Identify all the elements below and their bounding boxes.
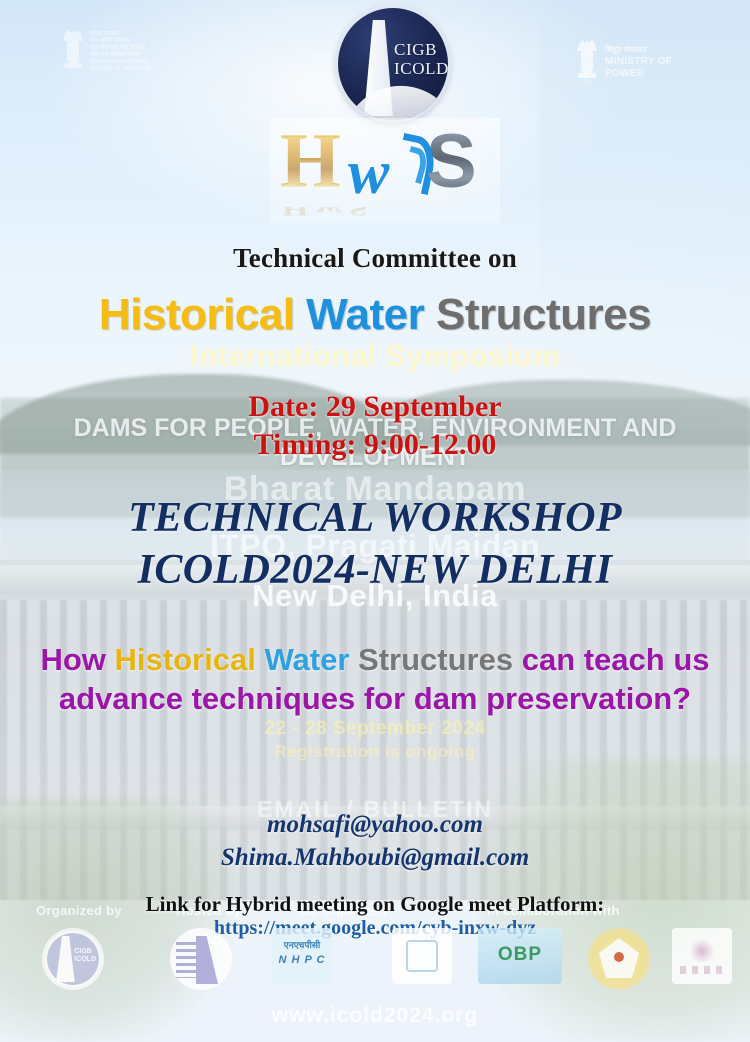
icold-sweep-shape xyxy=(338,80,448,120)
hws-letter-s: S xyxy=(426,124,477,200)
title-word-historical: Historical xyxy=(99,290,295,339)
question-word-structures: Structures xyxy=(358,642,513,677)
workshop-heading-line-2: ICOLD2024-NEW DELHI xyxy=(0,544,750,596)
incold-partner-logo xyxy=(170,928,232,990)
contact-emails: mohsafi@yahoo.com Shima.Mahboubi@gmail.c… xyxy=(0,808,750,874)
poster-title: Historical Water Structures xyxy=(0,292,750,338)
event-datetime-block: Date: 29 September Timing: 9:00-12.00 xyxy=(0,388,750,464)
obp-label: OBP xyxy=(478,944,562,966)
question-word-water: Water xyxy=(264,642,349,677)
emblem-left-text-block: भारत सरकार जल शक्ति मंत्रालय जल संसाधन, … xyxy=(90,28,150,76)
workshop-question: How Historical Water Structures can teac… xyxy=(0,640,750,718)
cigb-icold-logo: CIGB ICOLD xyxy=(338,8,448,120)
emblem-left-line-5: Government of India xyxy=(90,59,150,66)
event-date: Date: 29 September xyxy=(0,388,750,426)
workshop-heading: TECHNICAL WORKSHOP ICOLD2024-NEW DELHI xyxy=(0,492,750,596)
icold-logo-text: CIGB ICOLD xyxy=(394,40,448,78)
cigb-icold-partner-logo: CIGB ICOLD xyxy=(42,928,104,990)
title-word-structures: Structures xyxy=(436,290,651,339)
icold-logo-line-2: ICOLD xyxy=(394,59,448,78)
government-of-india-emblem-left: सत्य भारत सरकार जल शक्ति मंत्रालय जल संस… xyxy=(62,28,150,76)
hws-reflection: HwS xyxy=(282,207,482,219)
icold-logo-line-1: CIGB xyxy=(394,40,448,59)
poster-canvas: International Symposium DAMS FOR PEOPLE,… xyxy=(0,0,750,1042)
emblem-left-line-6: Ministry of Jal Shakti xyxy=(90,66,150,73)
hws-logo: H w S HwS xyxy=(270,118,500,223)
emblem-left-line-1: भारत सरकार xyxy=(90,31,150,38)
ashoka-emblem-icon: सत्य xyxy=(62,28,84,76)
question-part-1: How xyxy=(40,642,114,677)
partner-logo-4 xyxy=(392,928,452,984)
nhpc-hindi-label: एनएचपीसी xyxy=(276,938,328,951)
ministry-of-power-text-block: विद्युत मंत्रालय MINISTRY OF POWER xyxy=(605,38,672,86)
partner-icold-line-1: CIGB xyxy=(74,948,96,956)
ministry-of-power-line-1: MINISTRY OF xyxy=(605,56,672,68)
event-time: Timing: 9:00-12.00 xyxy=(0,426,750,464)
hws-letter-h: H xyxy=(280,122,341,200)
ashoka-emblem-icon: सत्य xyxy=(576,38,598,86)
ministry-of-power-hindi: विद्युत मंत्रालय xyxy=(605,44,672,56)
nhpc-label: N H P C xyxy=(276,954,328,966)
hws-letter-w: w xyxy=(348,142,389,204)
nhpc-partner-logo: एनएचपीसी N H P C xyxy=(272,928,332,984)
title-word-water: Water xyxy=(306,290,424,339)
question-space-2 xyxy=(349,642,358,677)
google-meet-label: Link for Hybrid meeting on Google meet P… xyxy=(0,892,750,917)
emblem-left-line-3: जल संसाधन, नदी विकास xyxy=(90,45,150,52)
partner-icold-line-2: ICOLD xyxy=(74,956,96,964)
ministry-of-power-line-2: POWER xyxy=(605,68,672,80)
ministry-of-power-emblem-right: सत्य विद्युत मंत्रालय MINISTRY OF POWER xyxy=(576,38,672,86)
emblem-left-line-4: और गंगा संरक्षण विभाग xyxy=(90,52,150,59)
obp-partner-logo: OBP xyxy=(478,928,562,984)
question-word-historical: Historical xyxy=(115,642,256,677)
partner-logo-7 xyxy=(672,928,732,984)
partner-logo-6 xyxy=(588,928,650,990)
contact-email-2[interactable]: Shima.Mahboubi@gmail.com xyxy=(0,841,750,874)
emblem-left-line-2: जल शक्ति मंत्रालय xyxy=(90,38,150,45)
technical-committee-prefix: Technical Committee on xyxy=(0,243,750,274)
workshop-heading-line-1: TECHNICAL WORKSHOP xyxy=(0,492,750,544)
contact-email-1[interactable]: mohsafi@yahoo.com xyxy=(0,808,750,841)
